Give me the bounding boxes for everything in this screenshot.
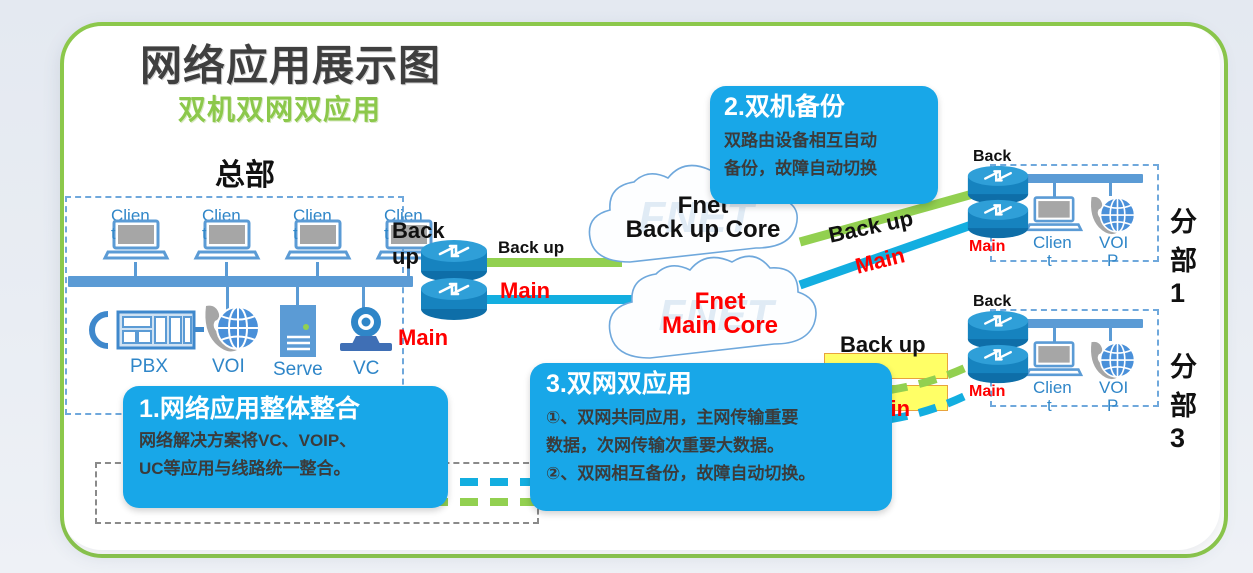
hq-client-3-label-line2: t: [293, 224, 298, 244]
router-icon: [965, 343, 1031, 385]
page-subtitle: 双机双网双应用: [178, 88, 381, 128]
page-title: 网络应用展示图: [140, 32, 441, 93]
callout-1[interactable]: 1.网络应用整体整合 网络解决方案将VC、VOIP、 UC等应用与线路统一整合。: [123, 386, 448, 508]
cloud-main-core-line2: Main Core: [600, 314, 840, 338]
callout-3-body-line-1: ①、双网共同应用，主网传输重要: [546, 407, 798, 429]
callout-2-body-line-1: 双路由设备相互自动: [724, 130, 877, 152]
voip-globe-icon: [198, 300, 262, 356]
branch-3-client-label-line2: t: [1047, 396, 1052, 416]
hq-device-vc: VC: [336, 306, 396, 358]
branch-1-client-label-line2: t: [1047, 251, 1052, 271]
hq-device-voip-label: VOI: [212, 356, 245, 378]
hq-device-server: Serve: [277, 303, 319, 359]
router-icon: [418, 276, 490, 322]
cloud-backup-core-line2: Back up Core: [578, 218, 828, 242]
cloud-main-core: FNET Fnet Main Core: [600, 258, 840, 376]
callout-2-heading: 2.双机备份: [724, 94, 845, 120]
laptop-icon: [1027, 341, 1081, 379]
diagram-canvas: 网络应用展示图 双机双网双应用 总部 Clien t Clien t Clien…: [0, 0, 1253, 573]
voip-globe-icon: [1085, 192, 1137, 238]
hq-client-2-drop: [225, 262, 228, 284]
branch-1-voip-label-line2: P: [1107, 251, 1118, 271]
callout-2[interactable]: 2.双机备份 双路由设备相互自动 备份，故障自动切换: [710, 86, 938, 204]
branch-1-voip-label-line1: VOI: [1099, 233, 1128, 253]
branch-1-main-router-label: Main: [969, 238, 1005, 256]
hq-client-2-label-line2: t: [202, 224, 207, 244]
hq-main-trunk-label: Main: [500, 278, 550, 304]
hq-device-vc-label: VC: [353, 358, 379, 380]
hq-router-main-label: Main: [398, 325, 448, 351]
hq-client-4-label-line2: t: [384, 224, 389, 244]
hq-device-voip: VOI: [198, 300, 262, 356]
pbx-icon: [96, 306, 204, 354]
hq-device-pbx: PBX: [96, 306, 204, 354]
hq-client-1-label-line2: t: [111, 224, 116, 244]
voip-globe-icon: [1085, 337, 1137, 383]
server-icon: [277, 303, 319, 359]
hq-backup-trunk-label: Back up: [498, 238, 564, 258]
callout-1-body-line-1: 网络解决方案将VC、VOIP、: [139, 430, 356, 452]
branch-3-client-label-line1: Clien: [1033, 378, 1072, 398]
hq-client-3-drop: [316, 262, 319, 284]
branch-3-main-router-label: Main: [969, 383, 1005, 401]
callout-3-heading: 3.双网双应用: [546, 371, 692, 397]
laptop-icon: [1027, 196, 1081, 234]
branch-1-client-label-line1: Clien: [1033, 233, 1072, 253]
callout-3[interactable]: 3.双网双应用 ①、双网共同应用，主网传输重要 数据，次网传输次重要大数据。 ②…: [530, 363, 892, 511]
branch3-backup-label: Back up: [840, 332, 926, 358]
router-icon: [965, 198, 1031, 240]
hq-device-server-label: Serve: [273, 359, 323, 381]
callout-3-body-line-3: ②、双网相互备份，故障自动切换。: [546, 463, 815, 485]
callout-3-body-line-2: 数据，次网传输次重要大数据。: [546, 435, 784, 457]
branch-1-name: 分部1: [1170, 200, 1197, 309]
callout-1-body-line-2: UC等应用与线路统一整合。: [139, 458, 351, 480]
headquarters-title: 总部: [215, 150, 275, 194]
callout-2-body-line-2: 备份，故障自动切换: [724, 158, 877, 180]
branch-3-voip-label-line2: P: [1107, 396, 1118, 416]
hq-device-pbx-label: PBX: [130, 356, 168, 378]
video-camera-icon: [336, 306, 396, 358]
branch-3-name: 分部3: [1170, 345, 1197, 454]
callout-1-heading: 1.网络应用整体整合: [139, 396, 360, 422]
cloud-main-core-line1: Fnet: [600, 290, 840, 314]
hq-client-1-drop: [134, 262, 137, 284]
branch-3-voip-label-line1: VOI: [1099, 378, 1128, 398]
